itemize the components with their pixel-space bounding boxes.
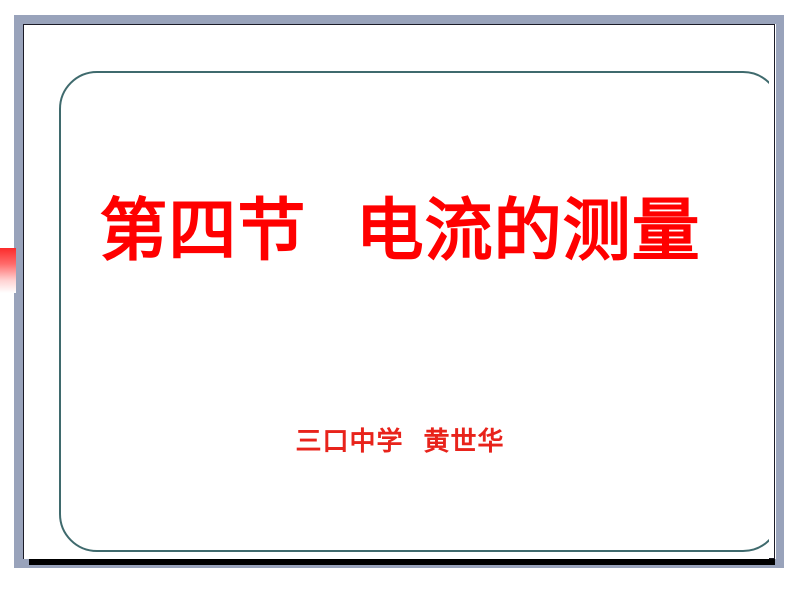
slide-stage: 第四节 电流的测量 三口中学 黄世华 [0, 0, 800, 600]
subtitle-block: 三口中学 黄世华 [0, 428, 800, 458]
slide-title: 第四节 电流的测量 [0, 196, 800, 267]
slide-subtitle-author: 三口中学 黄世华 [0, 428, 800, 458]
rounded-rectangle-outline [59, 71, 769, 552]
slide-shadow-bottom [29, 559, 775, 565]
slide-canvas [24, 25, 769, 559]
title-block: 第四节 电流的测量 [0, 196, 800, 267]
